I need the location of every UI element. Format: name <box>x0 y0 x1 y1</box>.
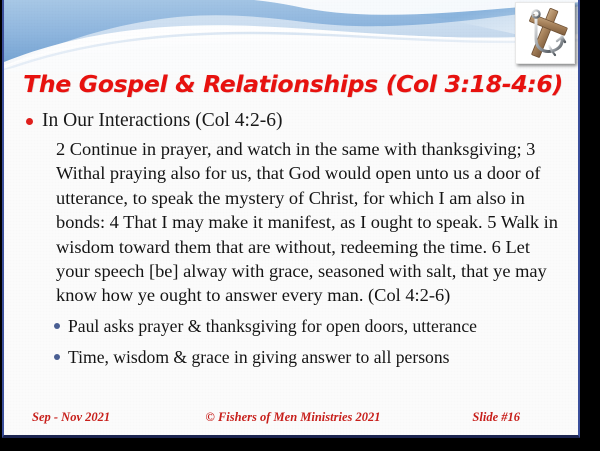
bullet-level2: Time, wisdom & grace in giving answer to… <box>4 345 580 370</box>
bullet-level2-label: Time, wisdom & grace in giving answer to… <box>68 347 449 367</box>
footer-slide-number: Slide #16 <box>472 410 520 425</box>
slide-root: The Gospel & Relationships (Col 3:18-4:6… <box>0 0 600 451</box>
sub-bullet-dot-icon <box>54 354 60 360</box>
page-title: The Gospel & Relationships (Col 3:18-4:6… <box>4 70 580 98</box>
slide-footer: Sep - Nov 2021 © Fishers of Men Ministri… <box>4 407 580 427</box>
cross-and-anchor-icon <box>515 2 575 64</box>
bullet-level2-label: Paul asks prayer & thanksgiving for open… <box>68 316 477 336</box>
sub-bullet-dot-icon <box>54 323 60 329</box>
bullet-level2: Paul asks prayer & thanksgiving for open… <box>4 314 580 339</box>
bullet-level1-label: In Our Interactions (Col 4:2-6) <box>42 110 282 131</box>
scripture-passage: 2 Continue in prayer, and watch in the s… <box>4 137 580 308</box>
bullet-dot-icon <box>26 118 33 125</box>
header-decoration <box>4 0 580 72</box>
bullet-level1: In Our Interactions (Col 4:2-6) <box>4 108 580 134</box>
presentation-slide: The Gospel & Relationships (Col 3:18-4:6… <box>2 0 580 438</box>
slide-body: In Our Interactions (Col 4:2-6) 2 Contin… <box>4 108 580 370</box>
